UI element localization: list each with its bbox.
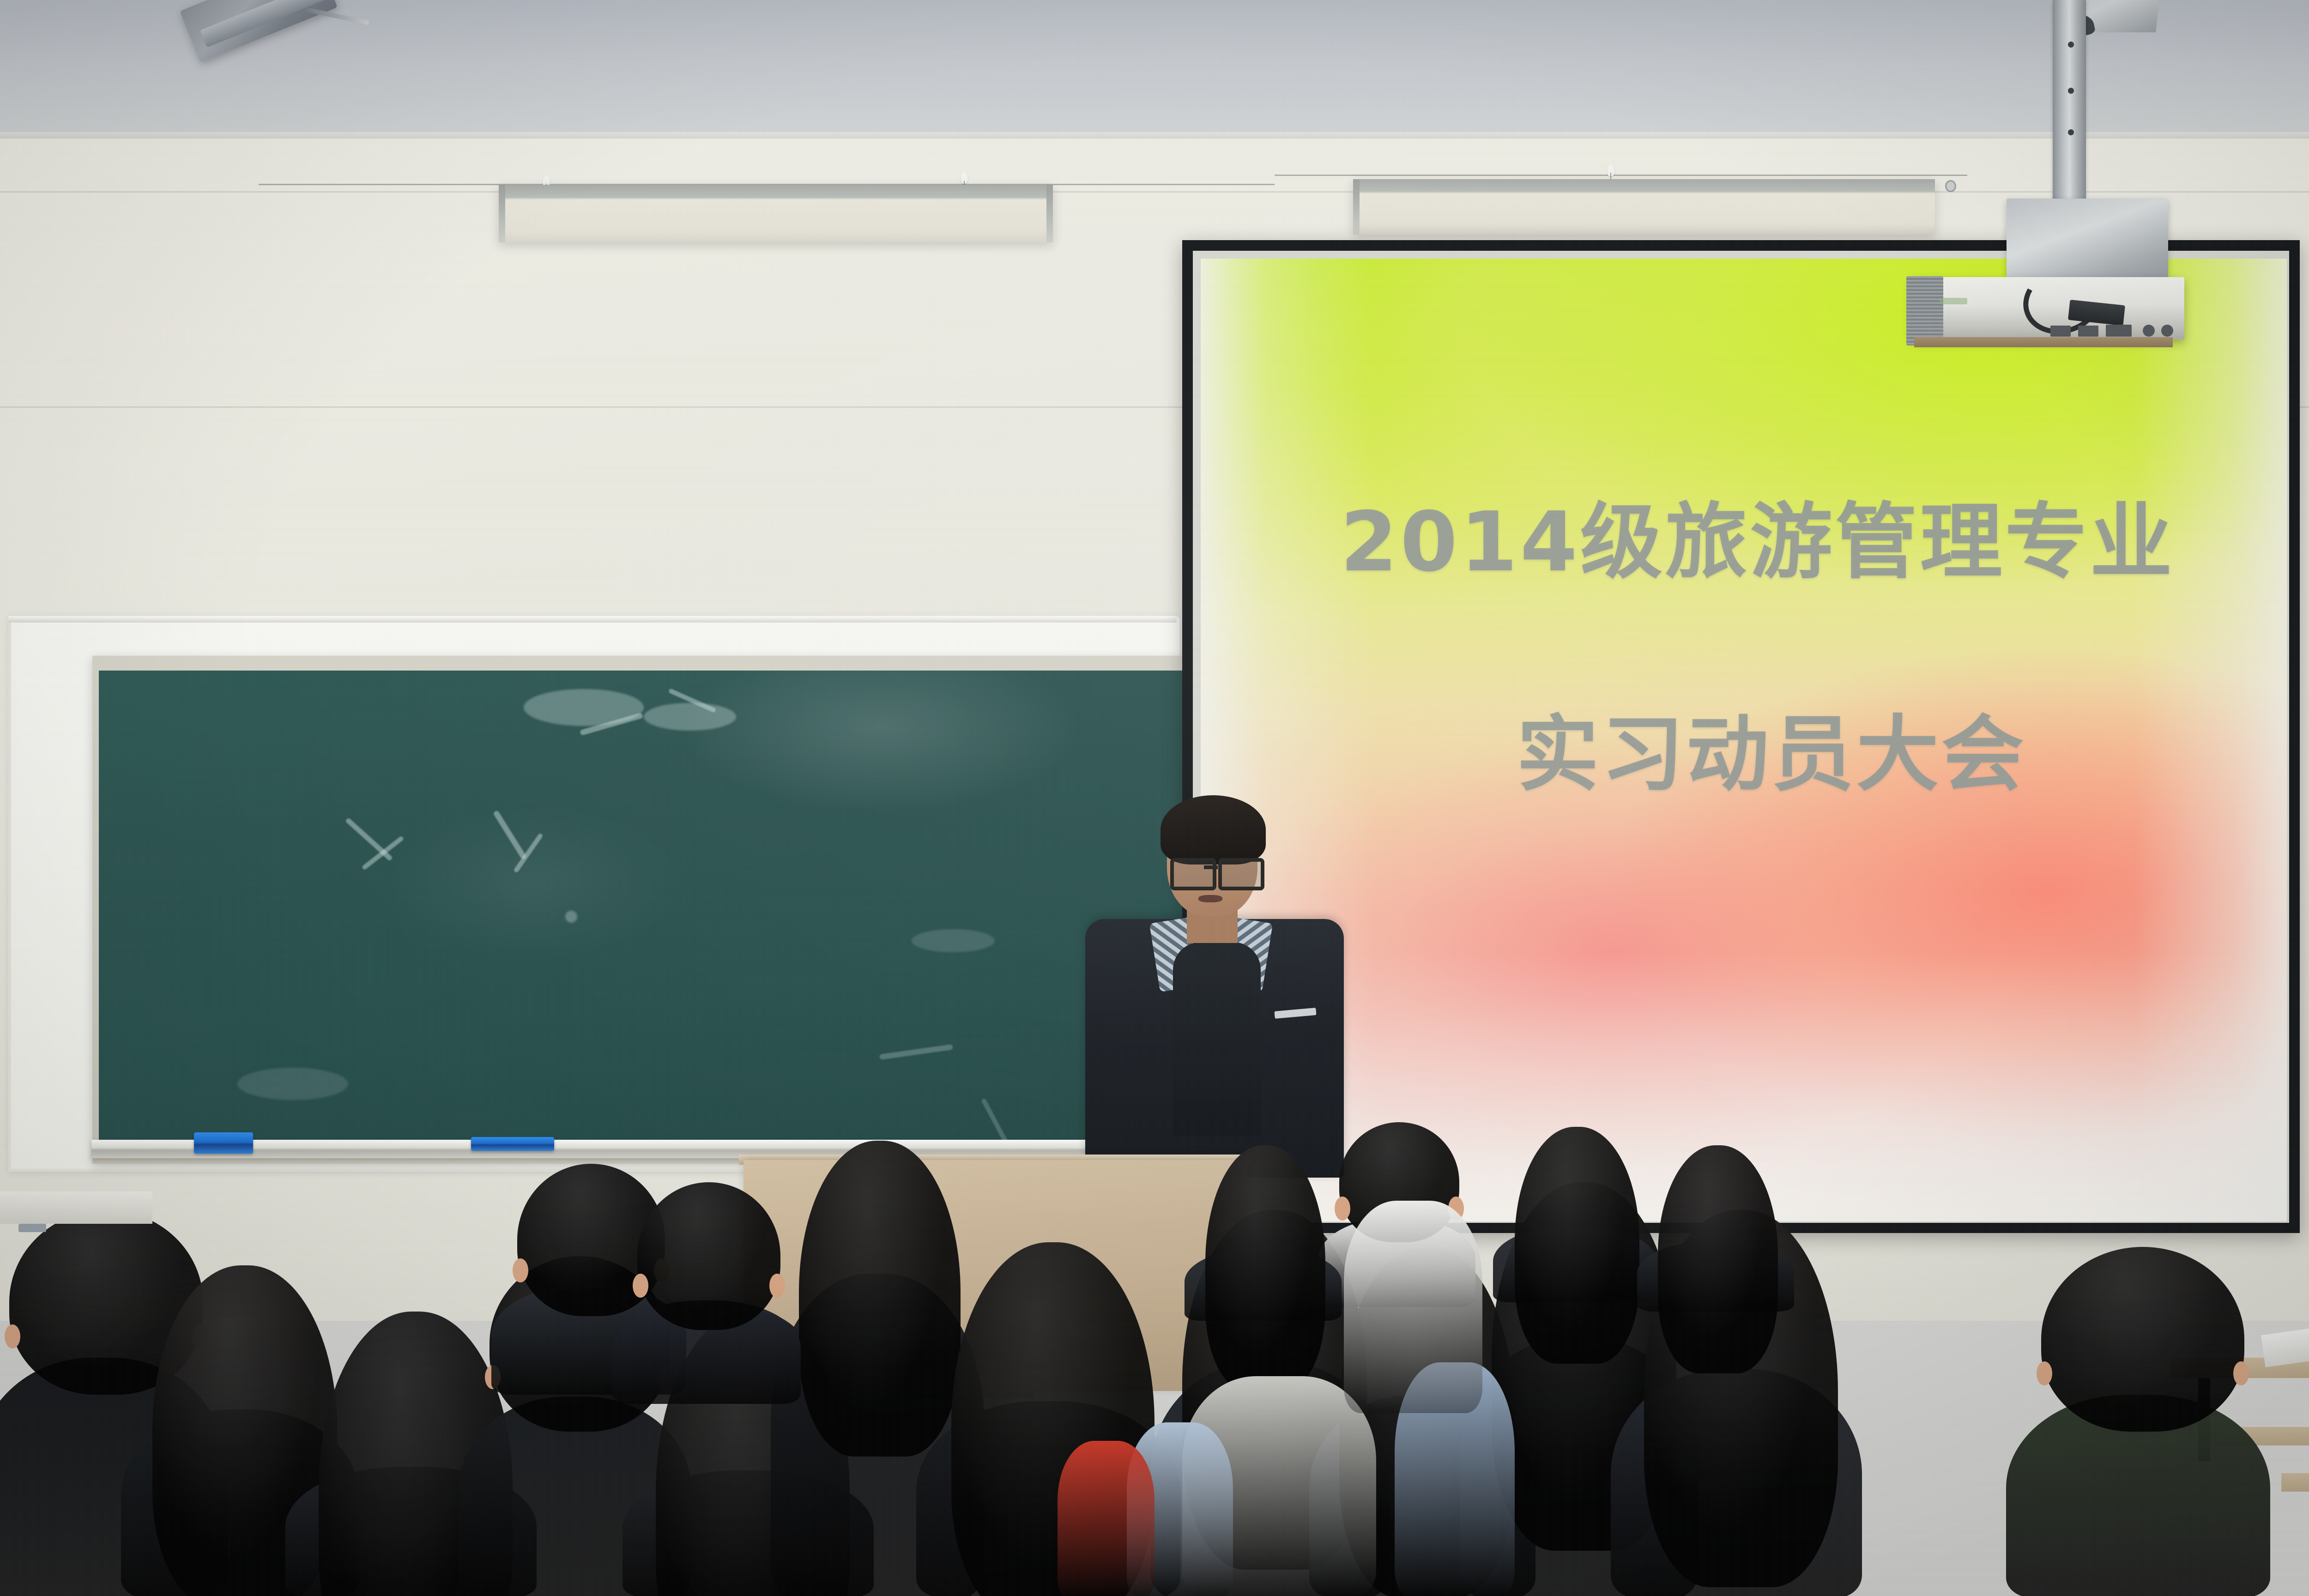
lamp-end-cap-left bbox=[499, 185, 505, 242]
projector-pole-bolt-3 bbox=[2068, 129, 2074, 135]
projector-base-plate bbox=[1914, 337, 2173, 347]
eyeglasses-icon-right-lens bbox=[1218, 858, 1264, 890]
student-back-18 bbox=[1205, 1145, 1321, 1321]
paper-sheet-on-desk[interactable] bbox=[2261, 1325, 2309, 1367]
projector-brand-mark bbox=[1940, 298, 1967, 304]
slide-title-line-2: 实习动员大会 bbox=[1201, 688, 2287, 807]
lamp-hanger-ring-icon bbox=[1945, 180, 1956, 192]
lamp-end-cap-right bbox=[1046, 185, 1053, 242]
classroom-photo: 2014级旅游管理专业 实习动员大会 bbox=[0, 0, 2309, 1596]
blackboard-eraser-left[interactable] bbox=[194, 1132, 253, 1154]
student-ear-right bbox=[769, 1274, 785, 1298]
speaker-mouth bbox=[1198, 895, 1222, 902]
student-mid-8 bbox=[637, 1182, 776, 1404]
ceiling bbox=[0, 0, 2309, 139]
projector-port-vga bbox=[2106, 325, 2132, 337]
lamp-suspension-rail-right bbox=[1275, 175, 1967, 176]
fluorescent-lamp-left bbox=[499, 185, 1053, 242]
speaker-hair bbox=[1161, 795, 1266, 864]
side-shelf-left bbox=[0, 1191, 152, 1224]
student-ear-left bbox=[1335, 1197, 1350, 1221]
student-back-16 bbox=[1515, 1127, 1635, 1302]
projector-port-audio bbox=[2143, 325, 2155, 337]
speaker-sweater bbox=[1173, 942, 1261, 1136]
blackboard-eraser-right[interactable] bbox=[471, 1137, 554, 1151]
eyeglasses-icon-bridge bbox=[1204, 865, 1218, 869]
red-jacket bbox=[1058, 1441, 1154, 1596]
projector-pole-bolt-2 bbox=[2068, 88, 2074, 94]
student-hair bbox=[1658, 1145, 1778, 1373]
eyeglasses-icon-left-lens bbox=[1170, 858, 1216, 890]
student-ear-left bbox=[513, 1258, 528, 1282]
white-shirt bbox=[1344, 1201, 1482, 1413]
student-hair bbox=[799, 1141, 961, 1457]
whiteboard-top-rail bbox=[8, 616, 1177, 623]
fluorescent-lamp-right bbox=[1353, 179, 1935, 235]
projector-port-hdmi bbox=[2050, 326, 2071, 337]
student-right-14 bbox=[2041, 1247, 2235, 1596]
projector-lens-vent-icon bbox=[1906, 276, 1943, 345]
blackboard-surface bbox=[99, 671, 1185, 1143]
student-hair bbox=[1515, 1127, 1639, 1364]
student-ear-left bbox=[633, 1274, 648, 1298]
student-hair bbox=[1205, 1145, 1325, 1391]
student-hair bbox=[2041, 1247, 2244, 1432]
projector-mount-pole bbox=[2053, 0, 2086, 212]
lamp-end-cap-right-a bbox=[1353, 179, 1360, 235]
student-back-17 bbox=[1658, 1145, 1773, 1312]
projector-port-usb bbox=[2078, 326, 2098, 337]
metal-bracket-left bbox=[18, 1224, 46, 1232]
student-ear-left bbox=[5, 1324, 20, 1348]
student-ear-left bbox=[2037, 1361, 2052, 1385]
projector-port-video bbox=[2161, 325, 2173, 337]
wall-seam-upper bbox=[0, 191, 2309, 193]
student-ear-right bbox=[2233, 1361, 2249, 1385]
slide-title-line-1: 2014级旅游管理专业 bbox=[1201, 476, 2287, 594]
desk-surface-right-3 bbox=[2281, 1473, 2309, 1492]
projection-screen-surface[interactable]: 2014级旅游管理专业 实习动员大会 bbox=[1201, 259, 2287, 1221]
student-hair bbox=[637, 1182, 780, 1330]
projector-pole-bolt-1 bbox=[2068, 42, 2074, 48]
